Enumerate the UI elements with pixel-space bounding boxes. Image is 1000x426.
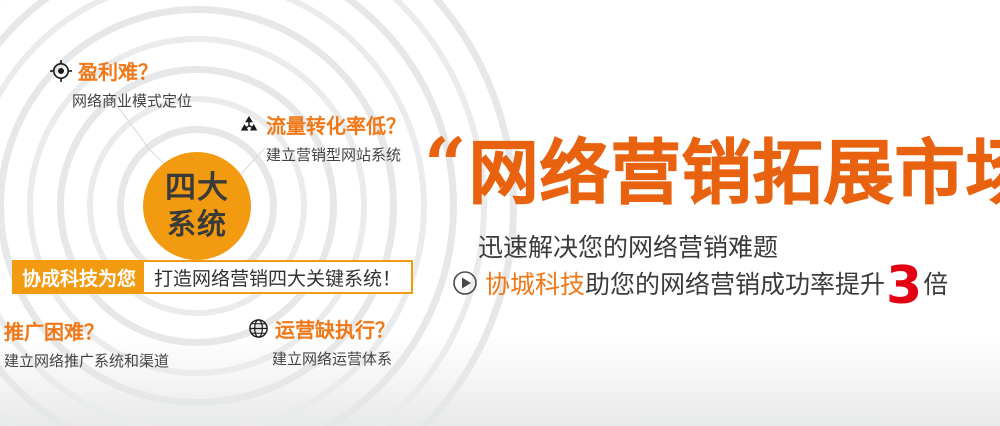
callout-subtitle: 建立营销型网站系统 bbox=[266, 144, 406, 165]
callout-profit[interactable]: 盈利难？ 网络商业模式定位 bbox=[50, 56, 192, 111]
callout-title: 推广困难？ bbox=[4, 316, 104, 345]
open-quote-mark: “ bbox=[424, 138, 467, 196]
callout-subtitle: 建立网络推广系统和渠道 bbox=[4, 350, 169, 371]
callout-title: 流量转化率低？ bbox=[266, 110, 406, 139]
subheadline-line1: 迅速解决您的网络营销难题 bbox=[478, 228, 778, 264]
callout-title: 盈利难？ bbox=[78, 56, 158, 85]
callout-header: 盈利难？ bbox=[50, 56, 192, 85]
callout-promotion[interactable]: 推广困难？ 建立网络推广系统和渠道 bbox=[4, 316, 169, 371]
subheadline-text: 助您的网络营销成功率提升 bbox=[585, 265, 885, 301]
callout-header: 运营缺执行？ bbox=[248, 314, 395, 343]
crosshair-target-icon bbox=[50, 60, 72, 82]
multiplier-number: 3 bbox=[886, 266, 922, 308]
multiplier-unit: 倍 bbox=[923, 265, 948, 301]
callout-subtitle: 建立网络运营体系 bbox=[272, 348, 395, 369]
brand-name: 协城科技 bbox=[485, 265, 585, 301]
callout-header: 推广困难？ bbox=[4, 316, 169, 345]
marketing-banner: 四大 系统 盈利难？ 网络商业模式定位 bbox=[0, 0, 1000, 426]
center-badge-line1: 四大 bbox=[165, 173, 229, 204]
center-badge-line2: 系统 bbox=[167, 210, 227, 239]
page-title: 网络营销拓展市场 bbox=[469, 138, 1000, 208]
globe-icon bbox=[248, 318, 269, 339]
tagline-bar-brand: 协成科技为您 bbox=[14, 262, 144, 292]
subheadline-line2: 协城科技 助您的网络营销成功率提升 3 倍 bbox=[452, 262, 948, 304]
callout-conversion[interactable]: 流量转化率低？ 建立营销型网站系统 bbox=[238, 110, 406, 165]
center-badge: 四大 系统 bbox=[143, 152, 251, 260]
tagline-bar-text: 打造网络营销四大关键系统！ bbox=[144, 262, 411, 292]
recycle-icon bbox=[238, 114, 260, 136]
play-circle-icon bbox=[452, 270, 478, 296]
callout-subtitle: 网络商业模式定位 bbox=[72, 90, 192, 111]
callout-title: 运营缺执行？ bbox=[275, 314, 395, 343]
tagline-bar: 协成科技为您 打造网络营销四大关键系统！ bbox=[12, 260, 413, 294]
callout-header: 流量转化率低？ bbox=[238, 110, 406, 139]
callout-operations[interactable]: 运营缺执行？ 建立网络运营体系 bbox=[248, 314, 395, 369]
